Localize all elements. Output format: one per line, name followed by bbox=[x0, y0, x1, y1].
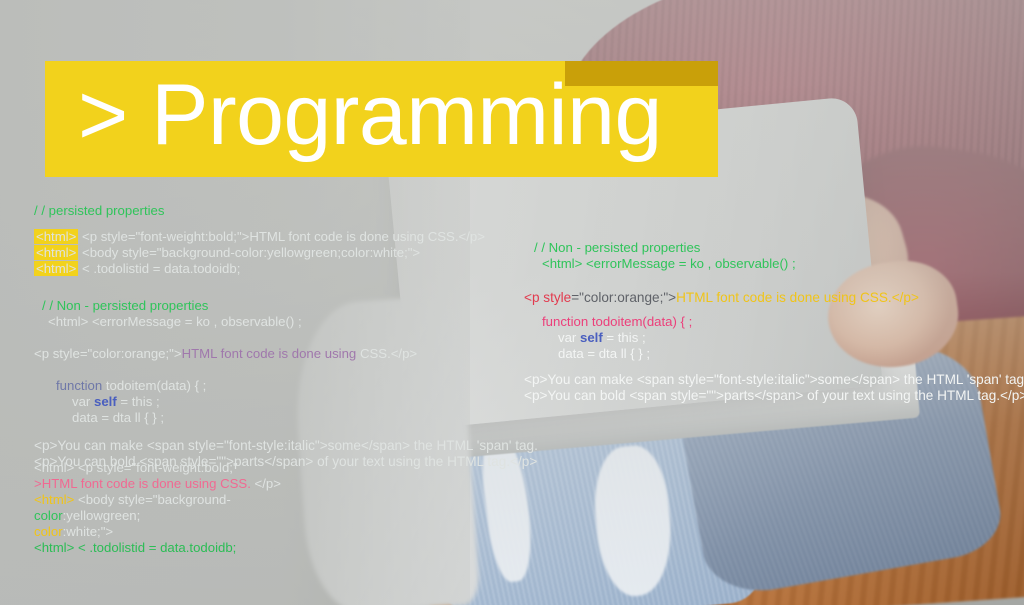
left-data-line: data = dta ll { } ; bbox=[34, 410, 538, 426]
left-errormessage-line: <html> <errorMessage = ko , observable()… bbox=[34, 314, 538, 330]
bottom-line-2-text: HTML font code is done using CSS. bbox=[42, 476, 251, 491]
right-code-block-1: / / Non - persisted properties <html> <e… bbox=[524, 240, 919, 306]
left-html-line-3: <html> < .todolistid = data.todoidb; bbox=[34, 261, 485, 277]
bottom-line-2-tail: </p> bbox=[255, 476, 281, 491]
right-p-open-b: style bbox=[543, 290, 571, 305]
left-code-block-2: / / Non - persisted properties <html> <e… bbox=[34, 298, 538, 470]
left-var-line: var self = this ; bbox=[34, 394, 538, 410]
left-html-line-2: <html> <body style="background-color:yel… bbox=[34, 245, 485, 261]
bottom-line-2: >HTML font code is done using CSS. </p> bbox=[34, 476, 281, 492]
bottom-color-key-1: color bbox=[34, 508, 63, 523]
right-errormessage-line: <html> <errorMessage = ko , observable()… bbox=[524, 256, 919, 272]
right-data-line: data = dta ll { } ; bbox=[524, 346, 1024, 362]
left-code-block-1: / / persisted properties <html> <p style… bbox=[34, 203, 485, 277]
bottom-color-key-2: color bbox=[34, 524, 63, 539]
bottom-line-3-rest: <body style="background- bbox=[78, 492, 231, 507]
left-var-keyword: var bbox=[72, 394, 90, 409]
left-html-line-1: <html> <p style="font-weight:bold;">HTML… bbox=[34, 229, 485, 245]
left-function-line: function todoitem(data) { ; bbox=[34, 378, 538, 394]
bottom-line-3: <html> <body style="background- bbox=[34, 492, 281, 508]
slide-canvas: > Programming / / persisted properties <… bbox=[0, 0, 1024, 605]
right-comment-non-persisted: / / Non - persisted properties bbox=[524, 240, 919, 256]
page-title: > Programming bbox=[78, 57, 662, 173]
right-var-assign: = this ; bbox=[606, 330, 645, 345]
right-code-block-2: function todoitem(data) { ; var self = t… bbox=[524, 314, 1024, 404]
right-span-line-2: <p>You can bold <span style="">parts</sp… bbox=[524, 388, 1024, 404]
bottom-line-6: <html> < .todolistid = data.todoidb; bbox=[34, 540, 281, 556]
left-function-rest: todoitem(data) { ; bbox=[106, 378, 206, 393]
left-html-line-3-rest: < .todolistid = data.todoidb; bbox=[82, 261, 240, 276]
right-p-open-a: <p bbox=[524, 290, 540, 305]
left-p-inner-text: HTML font code is done using bbox=[182, 346, 357, 361]
html-tag-highlight: <html> bbox=[34, 245, 78, 260]
left-p-open-tag: <p style="color:orange;"> bbox=[34, 346, 182, 361]
html-tag-highlight: <html> bbox=[34, 261, 78, 276]
right-p-orange-line: <p style="color:orange;">HTML font code … bbox=[524, 290, 919, 306]
bottom-line-1: <html> <p style="font-weight:bold;" bbox=[34, 460, 281, 476]
right-var-line: var self = this ; bbox=[524, 330, 1024, 346]
left-comment-non-persisted: / / Non - persisted properties bbox=[34, 298, 538, 314]
right-p-open-c: ="color:orange;"> bbox=[571, 290, 676, 305]
right-span-line-1: <p>You can make <span style="font-style:… bbox=[524, 372, 1024, 388]
left-code-block-3: <html> <p style="font-weight:bold;" >HTM… bbox=[34, 460, 281, 556]
bottom-color-val-1: :yellowgreen; bbox=[63, 508, 141, 523]
left-var-assign: = this ; bbox=[120, 394, 159, 409]
right-p-inner-text: HTML font code is done using CSS.</p> bbox=[676, 290, 919, 305]
left-p-close-tag: CSS.</p> bbox=[360, 346, 417, 361]
bottom-line-2-lead: > bbox=[34, 476, 42, 491]
left-function-keyword: function bbox=[56, 378, 102, 393]
left-html-line-2-rest: <body style="background-color:yellowgree… bbox=[82, 245, 420, 260]
bottom-line-4: color:yellowgreen; bbox=[34, 508, 281, 524]
left-comment-persisted: / / persisted properties bbox=[34, 203, 485, 219]
bottom-html-tag: <html> bbox=[34, 492, 74, 507]
left-span-line-1: <p>You can make <span style="font-style:… bbox=[34, 438, 538, 454]
left-var-name-self: self bbox=[94, 394, 117, 409]
right-var-name-self: self bbox=[580, 330, 603, 345]
left-html-line-1-rest: <p style="font-weight:bold;">HTML font c… bbox=[82, 229, 485, 244]
right-var-keyword: var bbox=[558, 330, 576, 345]
html-tag-highlight: <html> bbox=[34, 229, 78, 244]
left-p-orange-line: <p style="color:orange;">HTML font code … bbox=[34, 346, 538, 362]
bottom-line-5: color:white;"> bbox=[34, 524, 281, 540]
bottom-color-val-2: :white;"> bbox=[63, 524, 114, 539]
right-function-line: function todoitem(data) { ; bbox=[524, 314, 1024, 330]
